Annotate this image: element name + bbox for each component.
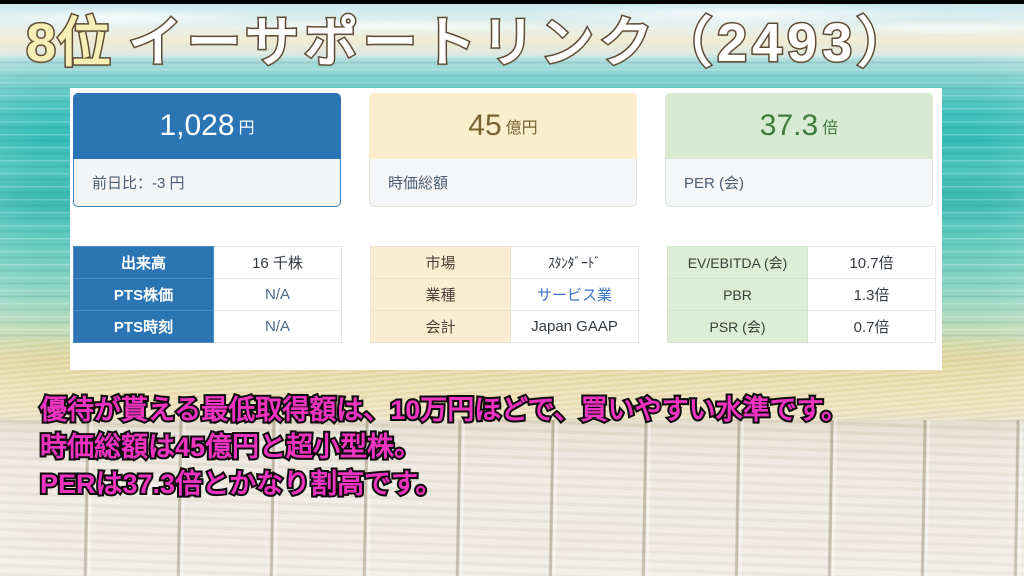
row-key: EV/EBITDA (会) xyxy=(668,247,808,279)
per-unit: 倍 xyxy=(822,114,838,138)
row-value: 16 千株 xyxy=(214,247,342,279)
market-cap-value-box: 45 億円 xyxy=(369,93,637,159)
table-row: EV/EBITDA (会) 10.7倍 xyxy=(668,247,936,279)
stat-cards-row: 1,028 円 前日比：-3 円 45 億円 時価総額 37.3 倍 PER (… xyxy=(70,88,933,207)
row-key: PTS時刻 xyxy=(74,311,214,343)
stat-card-market-cap: 45 億円 時価総額 xyxy=(369,93,637,207)
table-valuation-ratios: EV/EBITDA (会) 10.7倍 PBR 1.3倍 PSR (会) 0.7… xyxy=(667,246,936,343)
stat-card-stock-price: 1,028 円 前日比：-3 円 xyxy=(73,93,341,207)
caption-line-2: 時価総額は45億円と超小型株。 xyxy=(40,429,848,466)
market-cap-value: 45 xyxy=(468,109,501,143)
table-row: PBR 1.3倍 xyxy=(668,279,936,311)
caption-line-3: PERは37.3倍とかなり割高です。 xyxy=(40,466,848,503)
market-cap-unit: 億円 xyxy=(506,114,538,138)
row-key: PBR xyxy=(668,279,808,311)
row-key: 業種 xyxy=(371,279,511,311)
caption-line-1: 優待が貰える最低取得額は、10万円ほどで、買いやすい水準です。 xyxy=(40,392,848,429)
stat-card-per: 37.3 倍 PER (会) xyxy=(665,93,933,207)
stock-price-label: 前日比：-3 円 xyxy=(73,159,341,207)
table-row: 会計 Japan GAAP xyxy=(371,311,639,343)
caption-block: 優待が貰える最低取得額は、10万円ほどで、買いやすい水準です。 時価総額は45億… xyxy=(40,392,848,503)
row-value: ｽﾀﾝﾀﾞｰﾄﾞ xyxy=(511,247,639,279)
row-key: PSR (会) xyxy=(668,311,808,343)
letterbox-bar-top xyxy=(0,0,1024,4)
stock-price-value: 1,028 xyxy=(159,109,234,143)
company-name: イーサポートリンク（2493） xyxy=(128,12,916,74)
detail-tables-row: 出来高 16 千株 PTS株価 N/A PTS時刻 N/A xyxy=(73,246,936,343)
row-value: 0.7倍 xyxy=(808,311,936,343)
table-row: PTS時刻 N/A xyxy=(74,311,342,343)
page-title: 8位 イーサポートリンク（2493） xyxy=(26,12,916,74)
row-value: 1.3倍 xyxy=(808,279,936,311)
per-value-box: 37.3 倍 xyxy=(665,93,933,159)
row-key: 会計 xyxy=(371,311,511,343)
table-row: 市場 ｽﾀﾝﾀﾞｰﾄﾞ xyxy=(371,247,639,279)
row-key: 出来高 xyxy=(74,247,214,279)
table-trading-info: 出来高 16 千株 PTS株価 N/A PTS時刻 N/A xyxy=(73,246,342,343)
per-label: PER (会) xyxy=(665,159,933,207)
table-company-info: 市場 ｽﾀﾝﾀﾞｰﾄﾞ 業種 サービス業 会計 Japan GAAP xyxy=(370,246,639,343)
per-value: 37.3 xyxy=(760,109,818,143)
rank-badge: 8位 xyxy=(26,12,112,74)
row-key: PTS株価 xyxy=(74,279,214,311)
row-key: 市場 xyxy=(371,247,511,279)
row-value: N/A xyxy=(214,279,342,311)
stats-panel: 1,028 円 前日比：-3 円 45 億円 時価総額 37.3 倍 PER (… xyxy=(70,88,942,370)
table-row: 業種 サービス業 xyxy=(371,279,639,311)
stock-price-unit: 円 xyxy=(239,114,255,138)
row-value: N/A xyxy=(214,311,342,343)
stock-price-value-box: 1,028 円 xyxy=(73,93,341,159)
table-row: PTS株価 N/A xyxy=(74,279,342,311)
row-value: 10.7倍 xyxy=(808,247,936,279)
market-cap-label: 時価総額 xyxy=(369,159,637,207)
slide-canvas: 8位 イーサポートリンク（2493） 1,028 円 前日比：-3 円 45 億… xyxy=(0,0,1024,576)
table-row: PSR (会) 0.7倍 xyxy=(668,311,936,343)
row-value: Japan GAAP xyxy=(511,311,639,343)
row-value-link[interactable]: サービス業 xyxy=(511,279,639,311)
table-row: 出来高 16 千株 xyxy=(74,247,342,279)
